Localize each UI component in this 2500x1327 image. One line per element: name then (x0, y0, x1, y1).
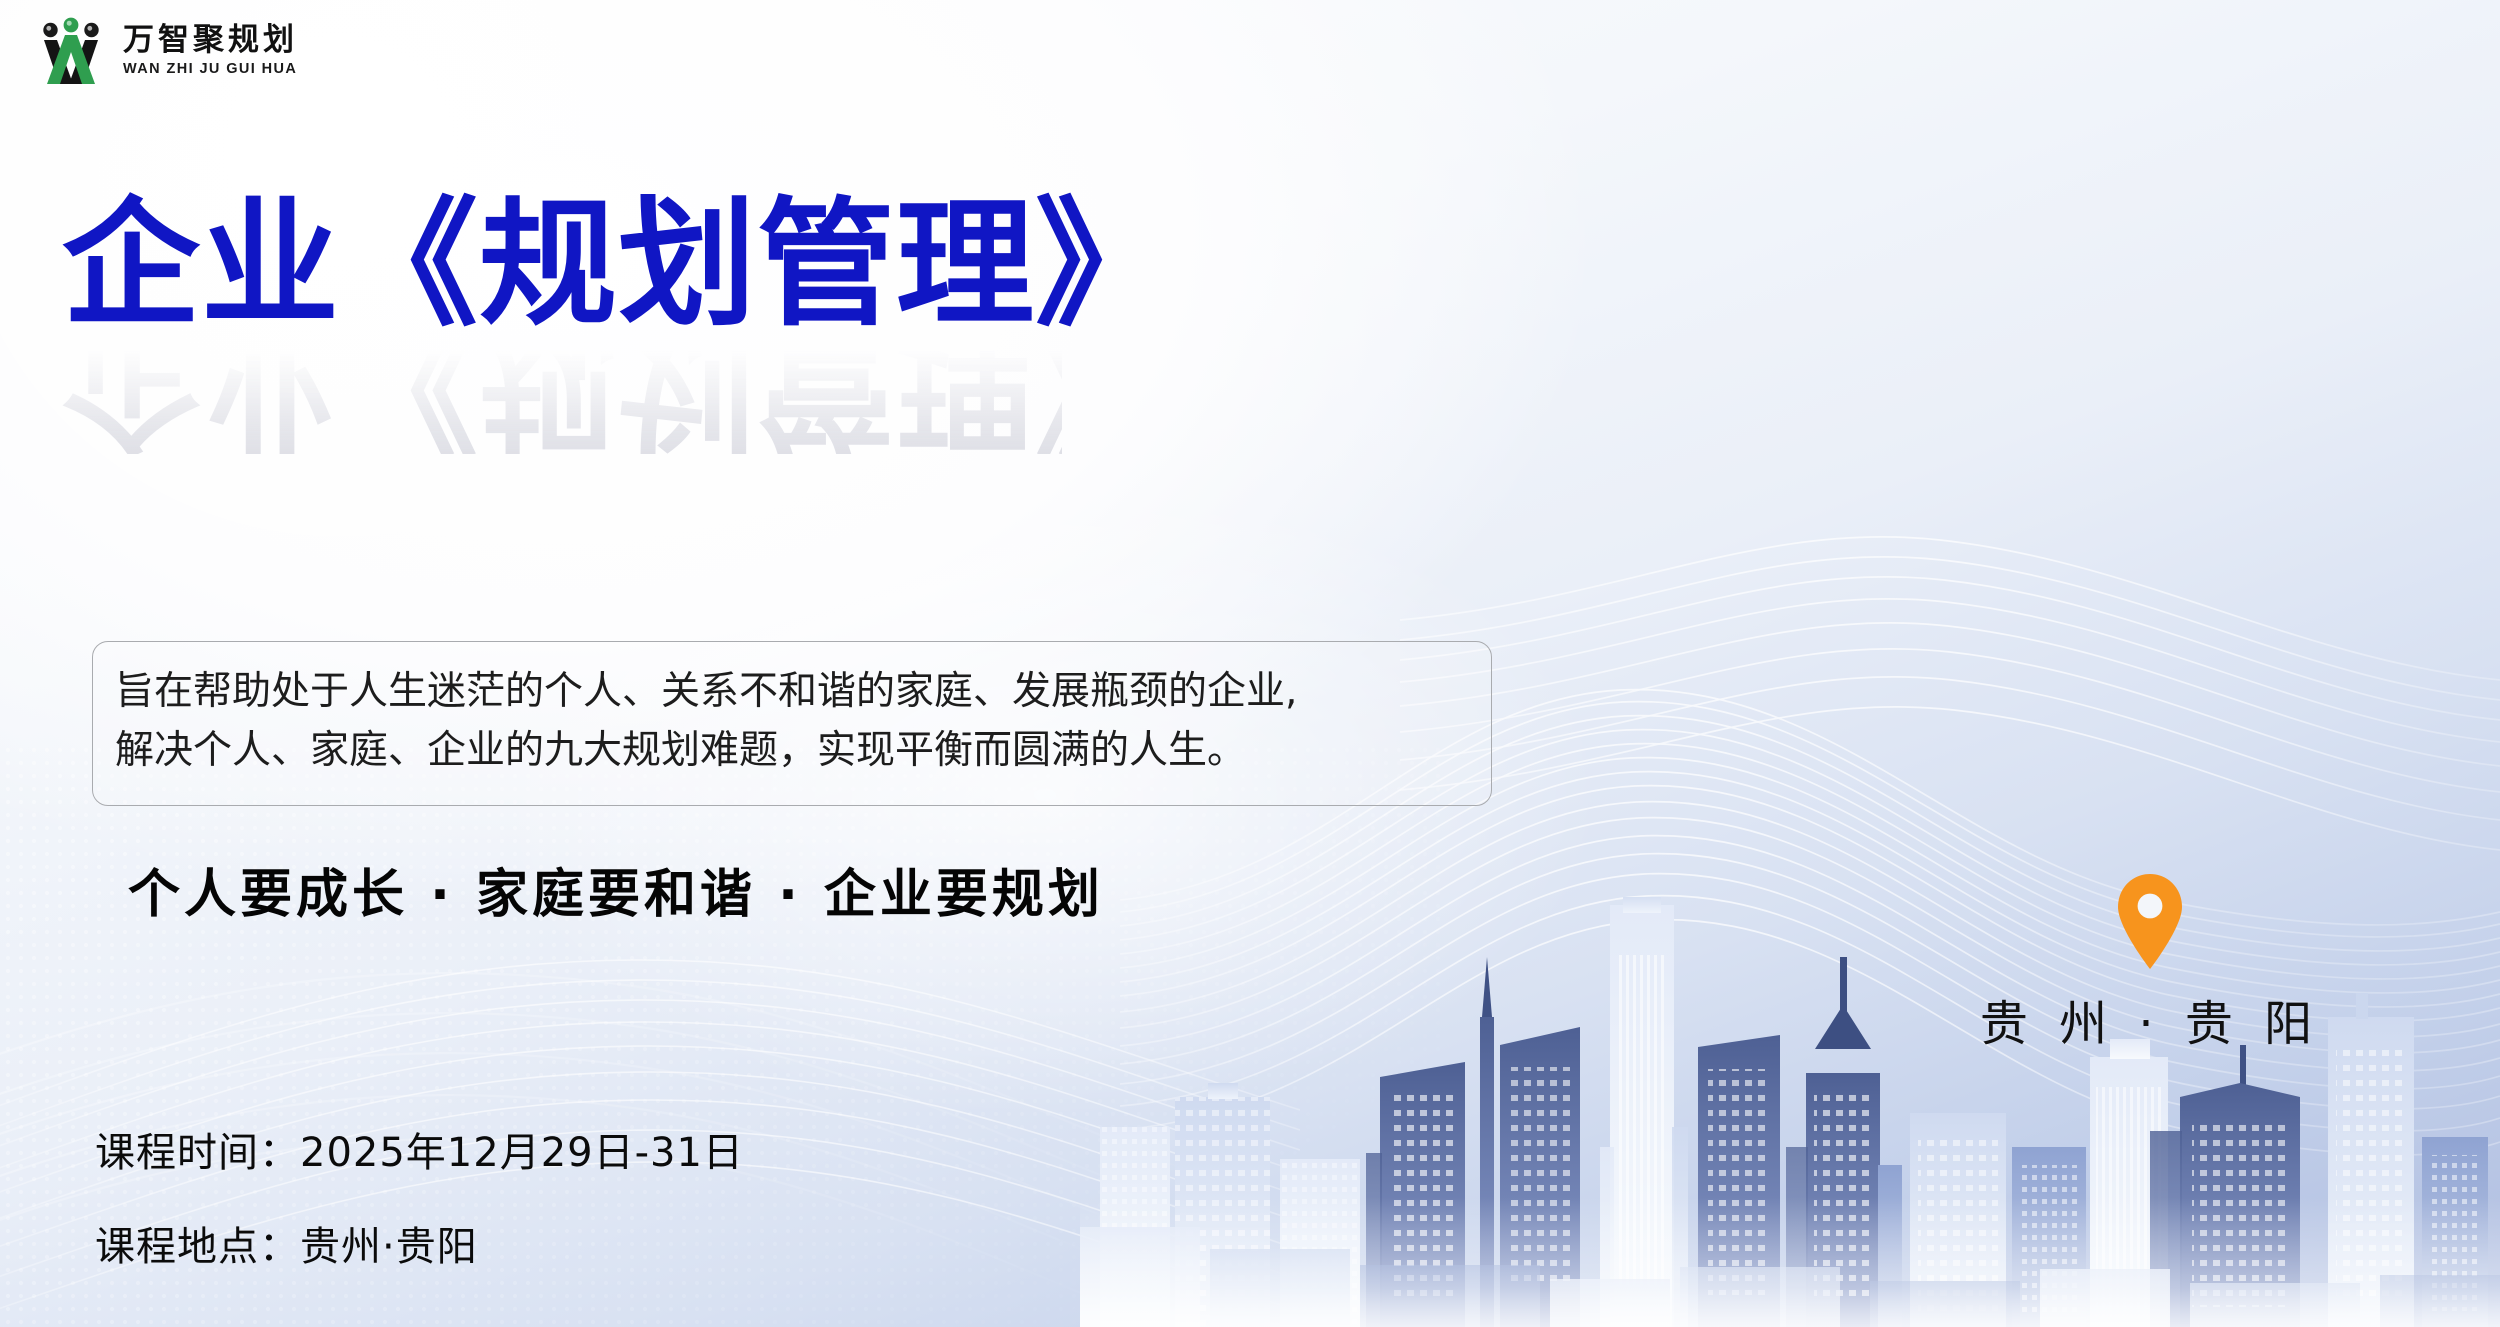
description-line-1: 旨在帮助处于人生迷茫的个人、关系不和谐的家庭、发展瓶颈的企业, (115, 662, 1465, 721)
brand-name-cn: 万智聚规划 (123, 24, 298, 55)
map-pin-icon (2112, 872, 2188, 970)
brand-name-pinyin: WAN ZHI JU GUI HUA (123, 62, 298, 77)
course-info: 课程时间：2025年12月29日-31日 课程地点：贵州·贵阳 (95, 1120, 744, 1308)
description-line-2: 解决个人、家庭、企业的九大规划难题，实现平衡而圆满的人生。 (115, 721, 1465, 780)
course-time: 课程时间：2025年12月29日-31日 (95, 1120, 744, 1178)
course-place: 课程地点：贵州·贵阳 (95, 1214, 744, 1272)
poster-canvas: 万智聚规划 WAN ZHI JU GUI HUA 企业《规划管理》 企业《规划管… (0, 0, 2500, 1327)
page-title: 企业《规划管理》 (62, 196, 1062, 334)
location-block: 贵 州 · 贵 阳 (1955, 872, 2345, 1054)
tagline: 个人要成长 · 家庭要和谐 · 企业要规划 (128, 852, 1104, 927)
hero-title-block: 企业《规划管理》 企业《规划管理》 (62, 196, 1062, 454)
location-city: 贵 州 · 贵 阳 (1980, 984, 2320, 1054)
three-people-mark-icon (33, 14, 109, 86)
page-title-reflection: 企业《规划管理》 (62, 336, 1062, 454)
description-box: 旨在帮助处于人生迷茫的个人、关系不和谐的家庭、发展瓶颈的企业, 解决个人、家庭、… (92, 641, 1492, 806)
brand-logo: 万智聚规划 WAN ZHI JU GUI HUA (33, 14, 298, 86)
